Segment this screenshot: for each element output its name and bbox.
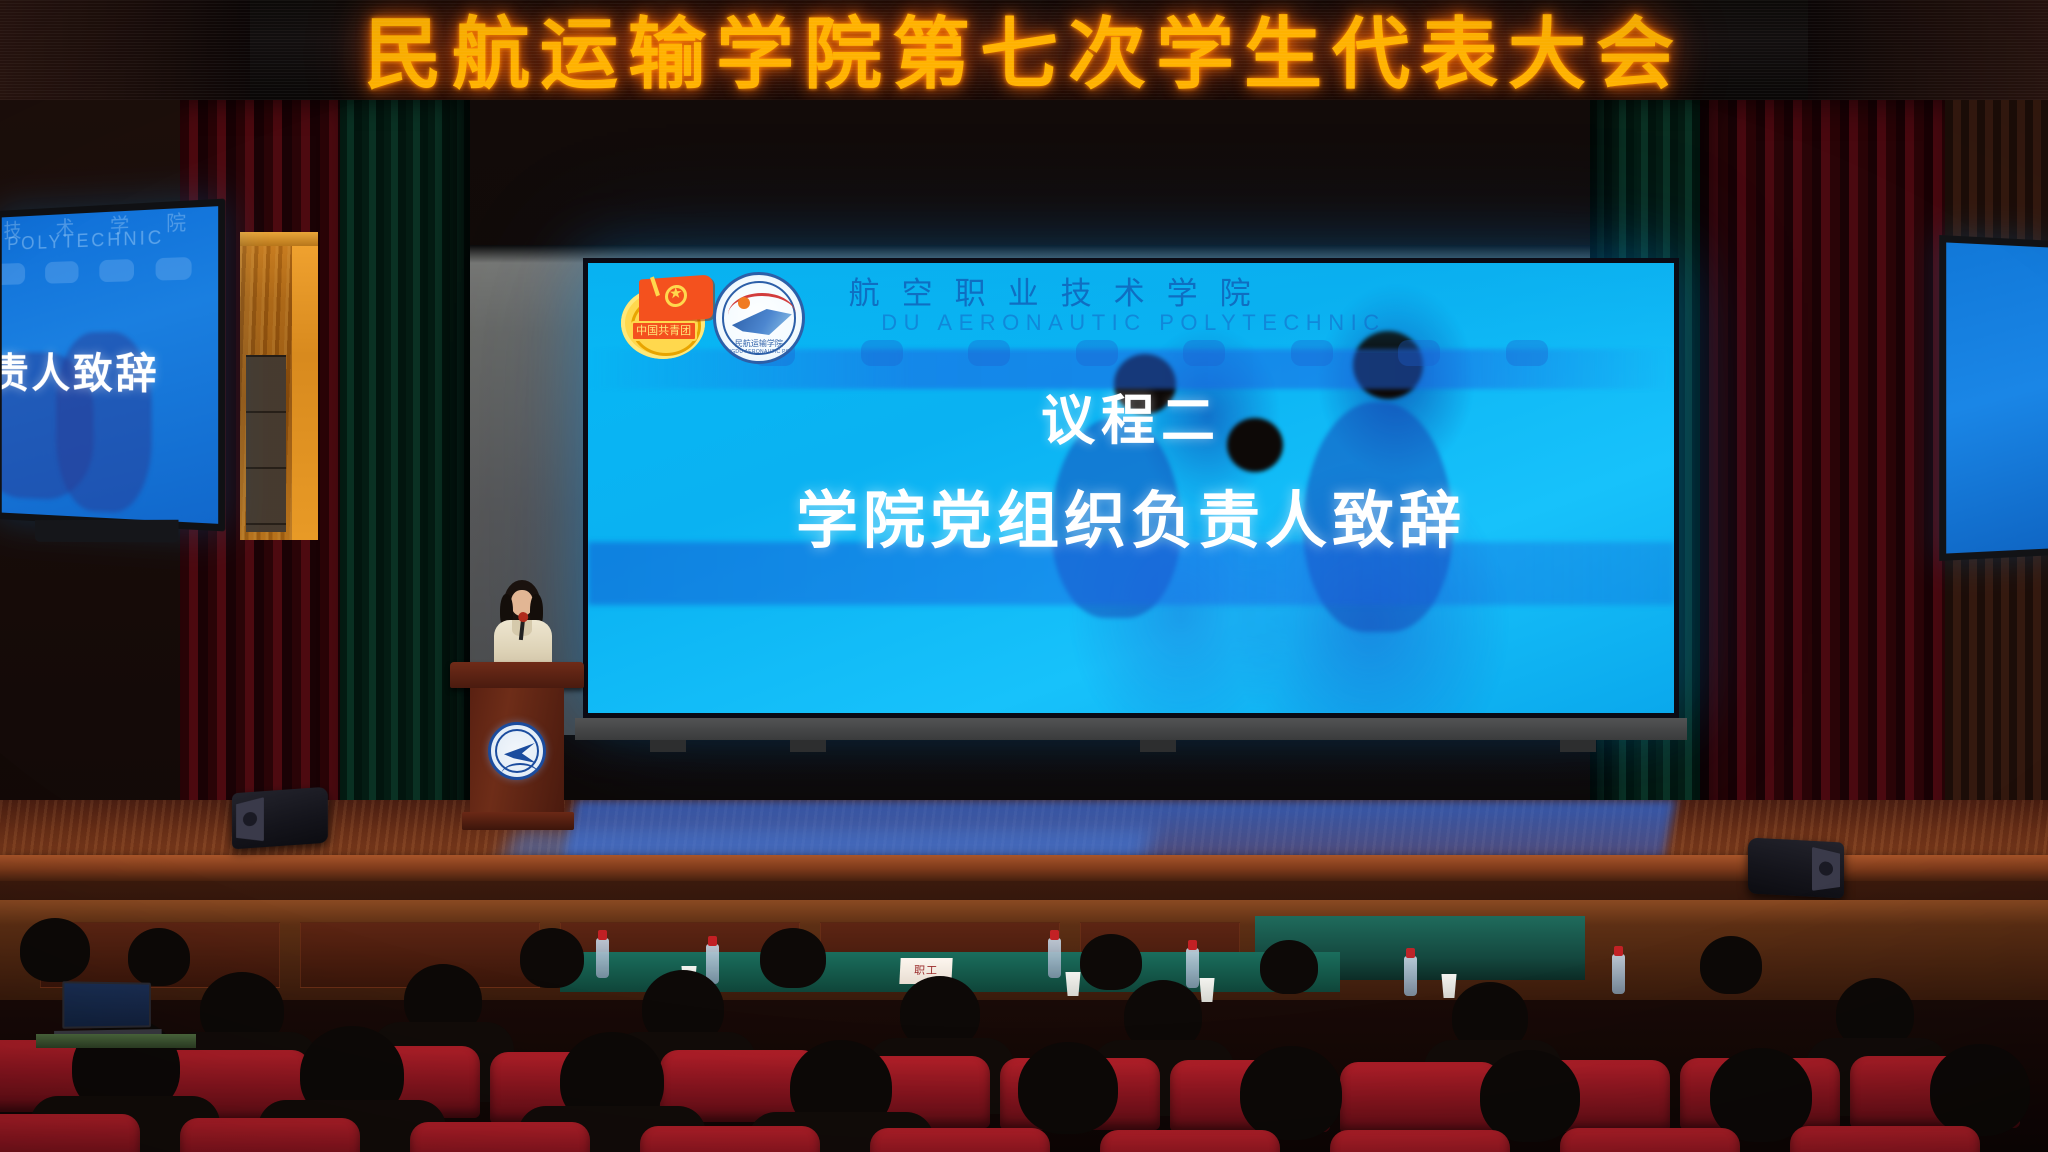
water-bottle: [596, 938, 609, 978]
banner-left-wall: [0, 0, 250, 100]
audience-head: [1240, 1046, 1342, 1140]
theatre-seat: [410, 1122, 590, 1152]
monitor-grille: [1812, 847, 1840, 892]
led-screen-foot: [1560, 740, 1596, 752]
theatre-seat: [1330, 1130, 1510, 1152]
crest-arc: [501, 763, 539, 775]
audience-head: [20, 918, 90, 982]
water-bottle: [1404, 956, 1417, 996]
tower-side: [292, 232, 318, 540]
crest-en-text: CHENGDU AERONAUTIC POLYTECHNIC UNIVERSIT…: [716, 349, 802, 355]
side-display-right-screen: [1946, 242, 2048, 553]
communist-youth-league-icon: 中国共青团: [621, 277, 717, 359]
league-ribbon-text: 中国共青团: [633, 323, 695, 339]
led-screen-foot: [1140, 740, 1176, 752]
audience-head: [760, 928, 826, 988]
crest-sun-icon: [738, 297, 750, 309]
audience-head: [1480, 1050, 1580, 1142]
led-screen-base: [575, 718, 1687, 740]
banner-title-text: 民航运输学院第七次学生代表大会: [364, 0, 1684, 100]
school-logo-icon: 民航运输学院 CHENGDU AERONAUTIC POLYTECHNIC UN…: [713, 272, 805, 364]
speaker-tower-left: [240, 232, 318, 540]
stage-floor-monitor-right: [1748, 837, 1844, 898]
operator-laptop: [62, 981, 151, 1029]
auditorium-scene: 民航运输学院第七次学生代表大会 技 术 学 院 POLYTECHNIC 责人致辞: [0, 0, 2048, 1152]
slide-window-row: [675, 340, 1652, 376]
operator-table: [36, 1034, 196, 1048]
led-banner: 民航运输学院第七次学生代表大会: [0, 0, 2048, 100]
paper-plane-icon: [504, 743, 536, 763]
audience-head: [1930, 1044, 2030, 1136]
theatre-seat: [180, 1118, 360, 1152]
tower-top: [240, 232, 318, 246]
audience-head: [128, 928, 190, 986]
main-slide: 航空职业技术学院 DU AERONAUTIC POLYTECHNIC 中国共青团: [588, 263, 1674, 713]
audience-area: 职工: [0, 900, 2048, 1152]
main-led-screen: 航空职业技术学院 DU AERONAUTIC POLYTECHNIC 中国共青团: [583, 258, 1679, 718]
slide-title: 议程二: [588, 376, 1674, 455]
theatre-seat: [870, 1128, 1050, 1152]
audience-head: [1700, 936, 1762, 994]
slide-subtitle: 学院党组织负责人致辞: [588, 470, 1674, 560]
theatre-seat: [640, 1126, 820, 1152]
tower-grille: [246, 355, 286, 532]
podium-top: [450, 662, 584, 688]
side-monitor-slide-text: 责人致辞: [2, 340, 160, 402]
theatre-seat: [0, 1114, 140, 1152]
flag-pole-icon: [650, 276, 660, 296]
water-bottle: [1612, 954, 1625, 994]
podium-base: [462, 812, 574, 830]
crest-cn-text: 民航运输学院: [716, 338, 802, 349]
podium: [462, 662, 572, 830]
podium-crest-icon: [488, 722, 546, 780]
theatre-seat: [1340, 1062, 1500, 1134]
slide-header-en: DU AERONAUTIC POLYTECHNIC: [881, 310, 1385, 336]
audience-head: [520, 928, 584, 988]
audience-head: [1260, 940, 1318, 994]
banner-right-wall: [1808, 0, 2048, 100]
star-icon: [665, 284, 687, 308]
side-display-left-screen: 技 术 学 院 POLYTECHNIC 责人致辞: [2, 206, 218, 524]
stage-floor-monitor-left: [232, 787, 328, 850]
theatre-seat: [1100, 1130, 1280, 1152]
league-ribbon: 中国共青团: [631, 321, 697, 341]
green-curtain-left: [340, 100, 470, 870]
monitor-grille: [236, 797, 264, 843]
led-screen-foot: [650, 740, 686, 752]
side-display-left: 技 术 学 院 POLYTECHNIC 责人致辞: [0, 199, 225, 532]
audience-head: [1080, 934, 1142, 990]
red-curtain-right: [1700, 100, 1950, 860]
audience-head: [1018, 1042, 1118, 1134]
presenter: [492, 580, 552, 670]
slide-header-cn: 航空职业技术学院: [849, 268, 1273, 313]
theatre-seat: [1560, 1128, 1740, 1152]
led-screen-foot: [790, 740, 826, 752]
league-flag-icon: [639, 274, 713, 323]
water-bottle: [1186, 948, 1199, 988]
stage-front-edge: [0, 855, 2048, 881]
side-display-left-stand: [35, 520, 179, 543]
theatre-seat: [1790, 1126, 1980, 1152]
side-display-right: [1939, 235, 2048, 561]
water-bottle: [1048, 938, 1061, 978]
slide-window-row: [2, 256, 218, 293]
